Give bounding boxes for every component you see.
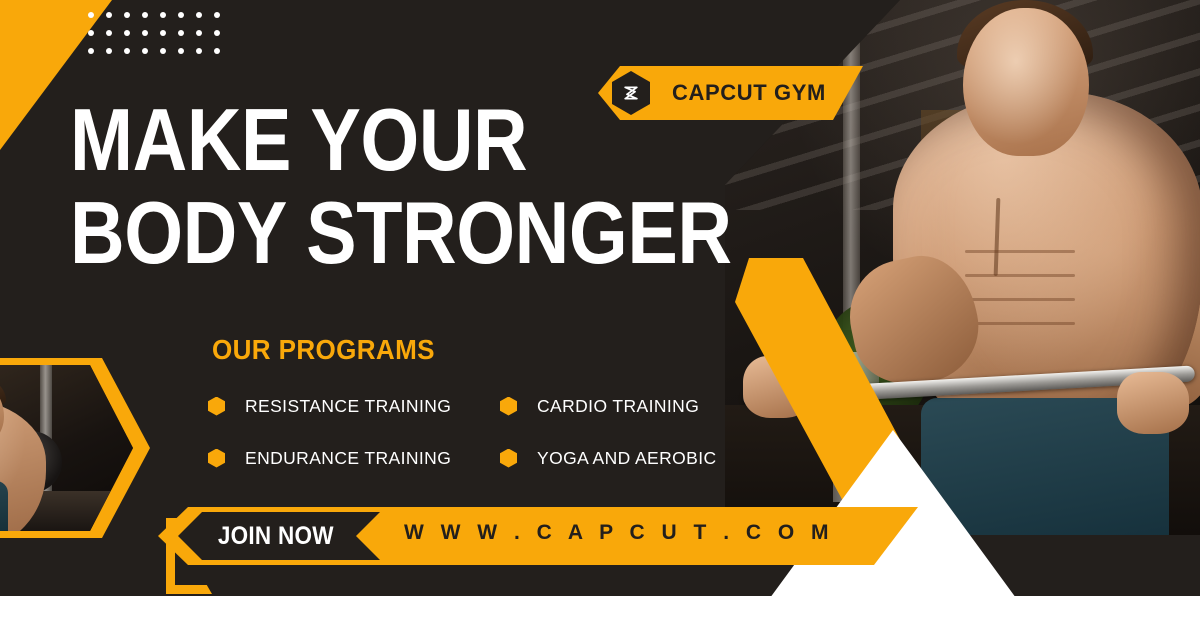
- headline-line-1: MAKE YOUR: [70, 100, 732, 181]
- join-now-button[interactable]: JOIN NOW: [178, 512, 380, 560]
- hexagon-bullet-icon: [208, 397, 225, 416]
- hexagon-bullet-icon: [500, 449, 517, 468]
- headline-line-2: BODY STRONGER: [70, 193, 732, 274]
- program-label: RESISTANCE TRAINING: [245, 396, 451, 417]
- hexagon-bullet-icon: [500, 397, 517, 416]
- program-item-endurance-training[interactable]: ENDURANCE TRAINING: [208, 438, 500, 478]
- programs-list: RESISTANCE TRAINING CARDIO TRAINING ENDU…: [208, 386, 768, 478]
- gym-promo-banner: CAPCUT GYM MAKE YOUR BODY STRONGER OUR P…: [0, 0, 1200, 628]
- dot-grid-decoration: [88, 12, 232, 66]
- programs-title: OUR PROGRAMS: [212, 334, 435, 366]
- page-title: MAKE YOUR BODY STRONGER: [70, 100, 839, 274]
- white-bottom-strip: [0, 596, 1200, 628]
- program-label: ENDURANCE TRAINING: [245, 448, 451, 469]
- program-item-yoga-and-aerobic[interactable]: YOGA AND AEROBIC: [500, 438, 768, 478]
- program-label: CARDIO TRAINING: [537, 396, 699, 417]
- program-label: YOGA AND AEROBIC: [537, 448, 717, 469]
- join-now-label: JOIN NOW: [217, 522, 340, 551]
- program-item-resistance-training[interactable]: RESISTANCE TRAINING: [208, 386, 500, 426]
- program-item-cardio-training[interactable]: CARDIO TRAINING: [500, 386, 768, 426]
- inset-photo-frame: [0, 358, 150, 538]
- hexagon-bullet-icon: [208, 449, 225, 468]
- website-url[interactable]: W W W . C A P C U T . C O M: [404, 521, 834, 545]
